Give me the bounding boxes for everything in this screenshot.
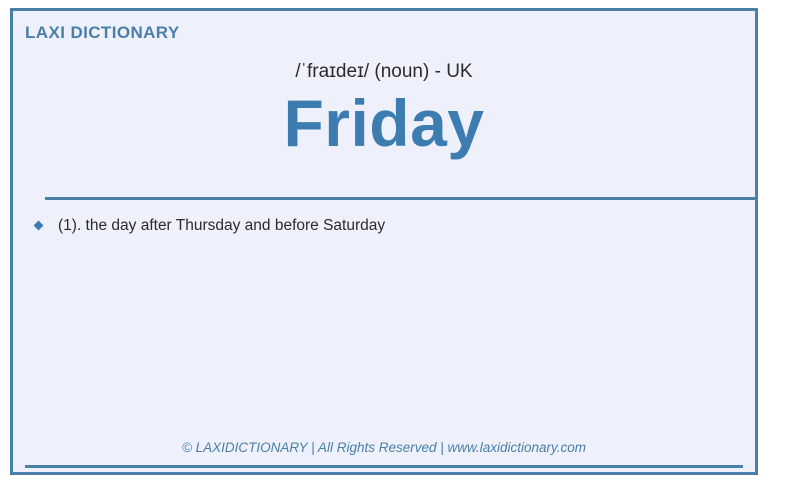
definition-list: (1). the day after Thursday and before S… [35, 215, 735, 244]
definition-text: (1). the day after Thursday and before S… [58, 215, 385, 236]
phonetic-transcription: /ˈfraɪdeɪ/ (noun) - UK [13, 59, 755, 85]
footer-divider [25, 465, 743, 468]
headword: Friday [13, 85, 755, 161]
headword-block: /ˈfraɪdeɪ/ (noun) - UK Friday [13, 59, 755, 161]
footer: © LAXIDICTIONARY | All Rights Reserved |… [13, 438, 755, 458]
definition-item: (1). the day after Thursday and before S… [35, 215, 735, 236]
dictionary-card: LAXI DICTIONARY /ˈfraɪdeɪ/ (noun) - UK F… [10, 8, 758, 475]
diamond-bullet-icon [34, 221, 44, 231]
brand-title: LAXI DICTIONARY [25, 23, 180, 43]
copyright-text: © LAXIDICTIONARY | All Rights Reserved |… [13, 438, 755, 458]
headword-divider [45, 197, 758, 200]
